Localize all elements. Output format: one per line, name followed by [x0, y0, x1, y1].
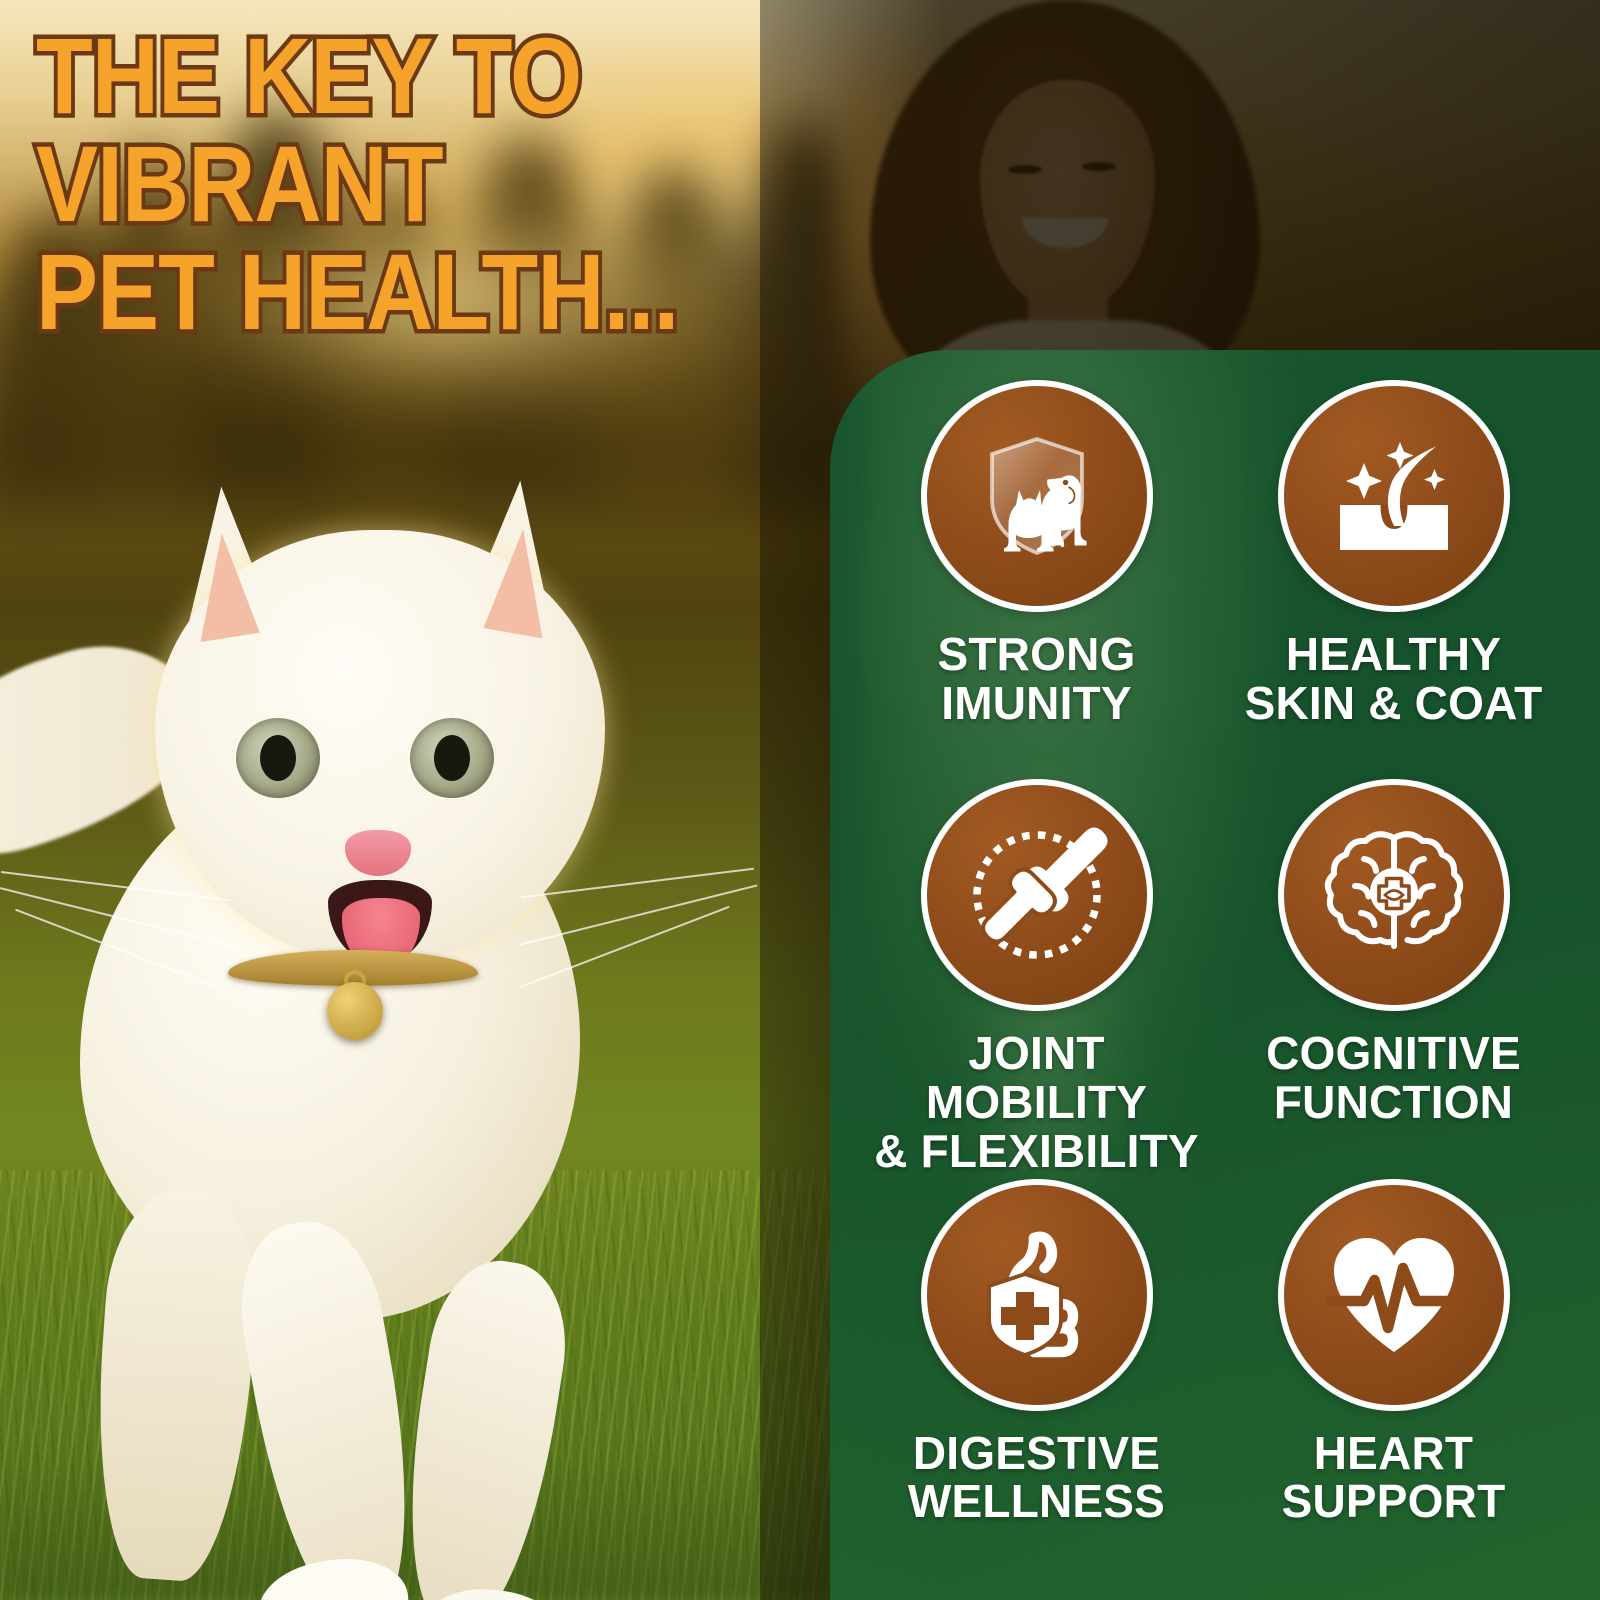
badge-circle: [921, 1179, 1153, 1411]
badge-circle: [1278, 380, 1510, 612]
pet-health-poster: THE KEY TO VIBRANT PET HEALTH...: [0, 0, 1600, 1600]
benefit-label: DIGESTIVE WELLNESS: [908, 1429, 1165, 1527]
benefit-item-digestive-wellness[interactable]: DIGESTIVE WELLNESS: [858, 1179, 1215, 1578]
brain-cross-icon: [1319, 820, 1469, 970]
white-cat: [0, 430, 780, 1570]
cat-collar-tag: [327, 982, 383, 1040]
benefit-item-cognitive-function[interactable]: COGNITIVE FUNCTION: [1215, 779, 1572, 1178]
benefit-label: STRONG IMUNITY: [938, 630, 1136, 728]
stomach-shield-icon: [962, 1220, 1112, 1370]
benefit-item-joint-mobility[interactable]: JOINT MOBILITY & FLEXIBILITY: [858, 779, 1215, 1178]
hair-follicle-sparkle-icon: [1319, 421, 1469, 571]
badge-circle: [921, 779, 1153, 1011]
benefit-item-heart-support[interactable]: HEART SUPPORT: [1215, 1179, 1572, 1578]
bone-joint-icon: [962, 820, 1112, 970]
benefits-panel: STRONG IMUNITY HEALTHY SKIN & COAT: [830, 350, 1600, 1600]
shield-pets-icon: [962, 421, 1112, 571]
benefit-label: JOINT MOBILITY & FLEXIBILITY: [858, 1029, 1215, 1175]
benefit-item-strong-immunity[interactable]: STRONG IMUNITY: [858, 380, 1215, 779]
badge-circle: [921, 380, 1153, 612]
benefit-label: COGNITIVE FUNCTION: [1266, 1029, 1521, 1127]
badge-circle: [1278, 1179, 1510, 1411]
benefit-item-healthy-skin-coat[interactable]: HEALTHY SKIN & COAT: [1215, 380, 1572, 779]
badge-circle: [1278, 779, 1510, 1011]
benefit-label: HEART SUPPORT: [1282, 1429, 1506, 1527]
page-title: THE KEY TO VIBRANT PET HEALTH...: [36, 22, 913, 346]
benefit-label: HEALTHY SKIN & COAT: [1245, 630, 1543, 728]
benefits-grid: STRONG IMUNITY HEALTHY SKIN & COAT: [830, 350, 1600, 1600]
heart-pulse-icon: [1319, 1220, 1469, 1370]
